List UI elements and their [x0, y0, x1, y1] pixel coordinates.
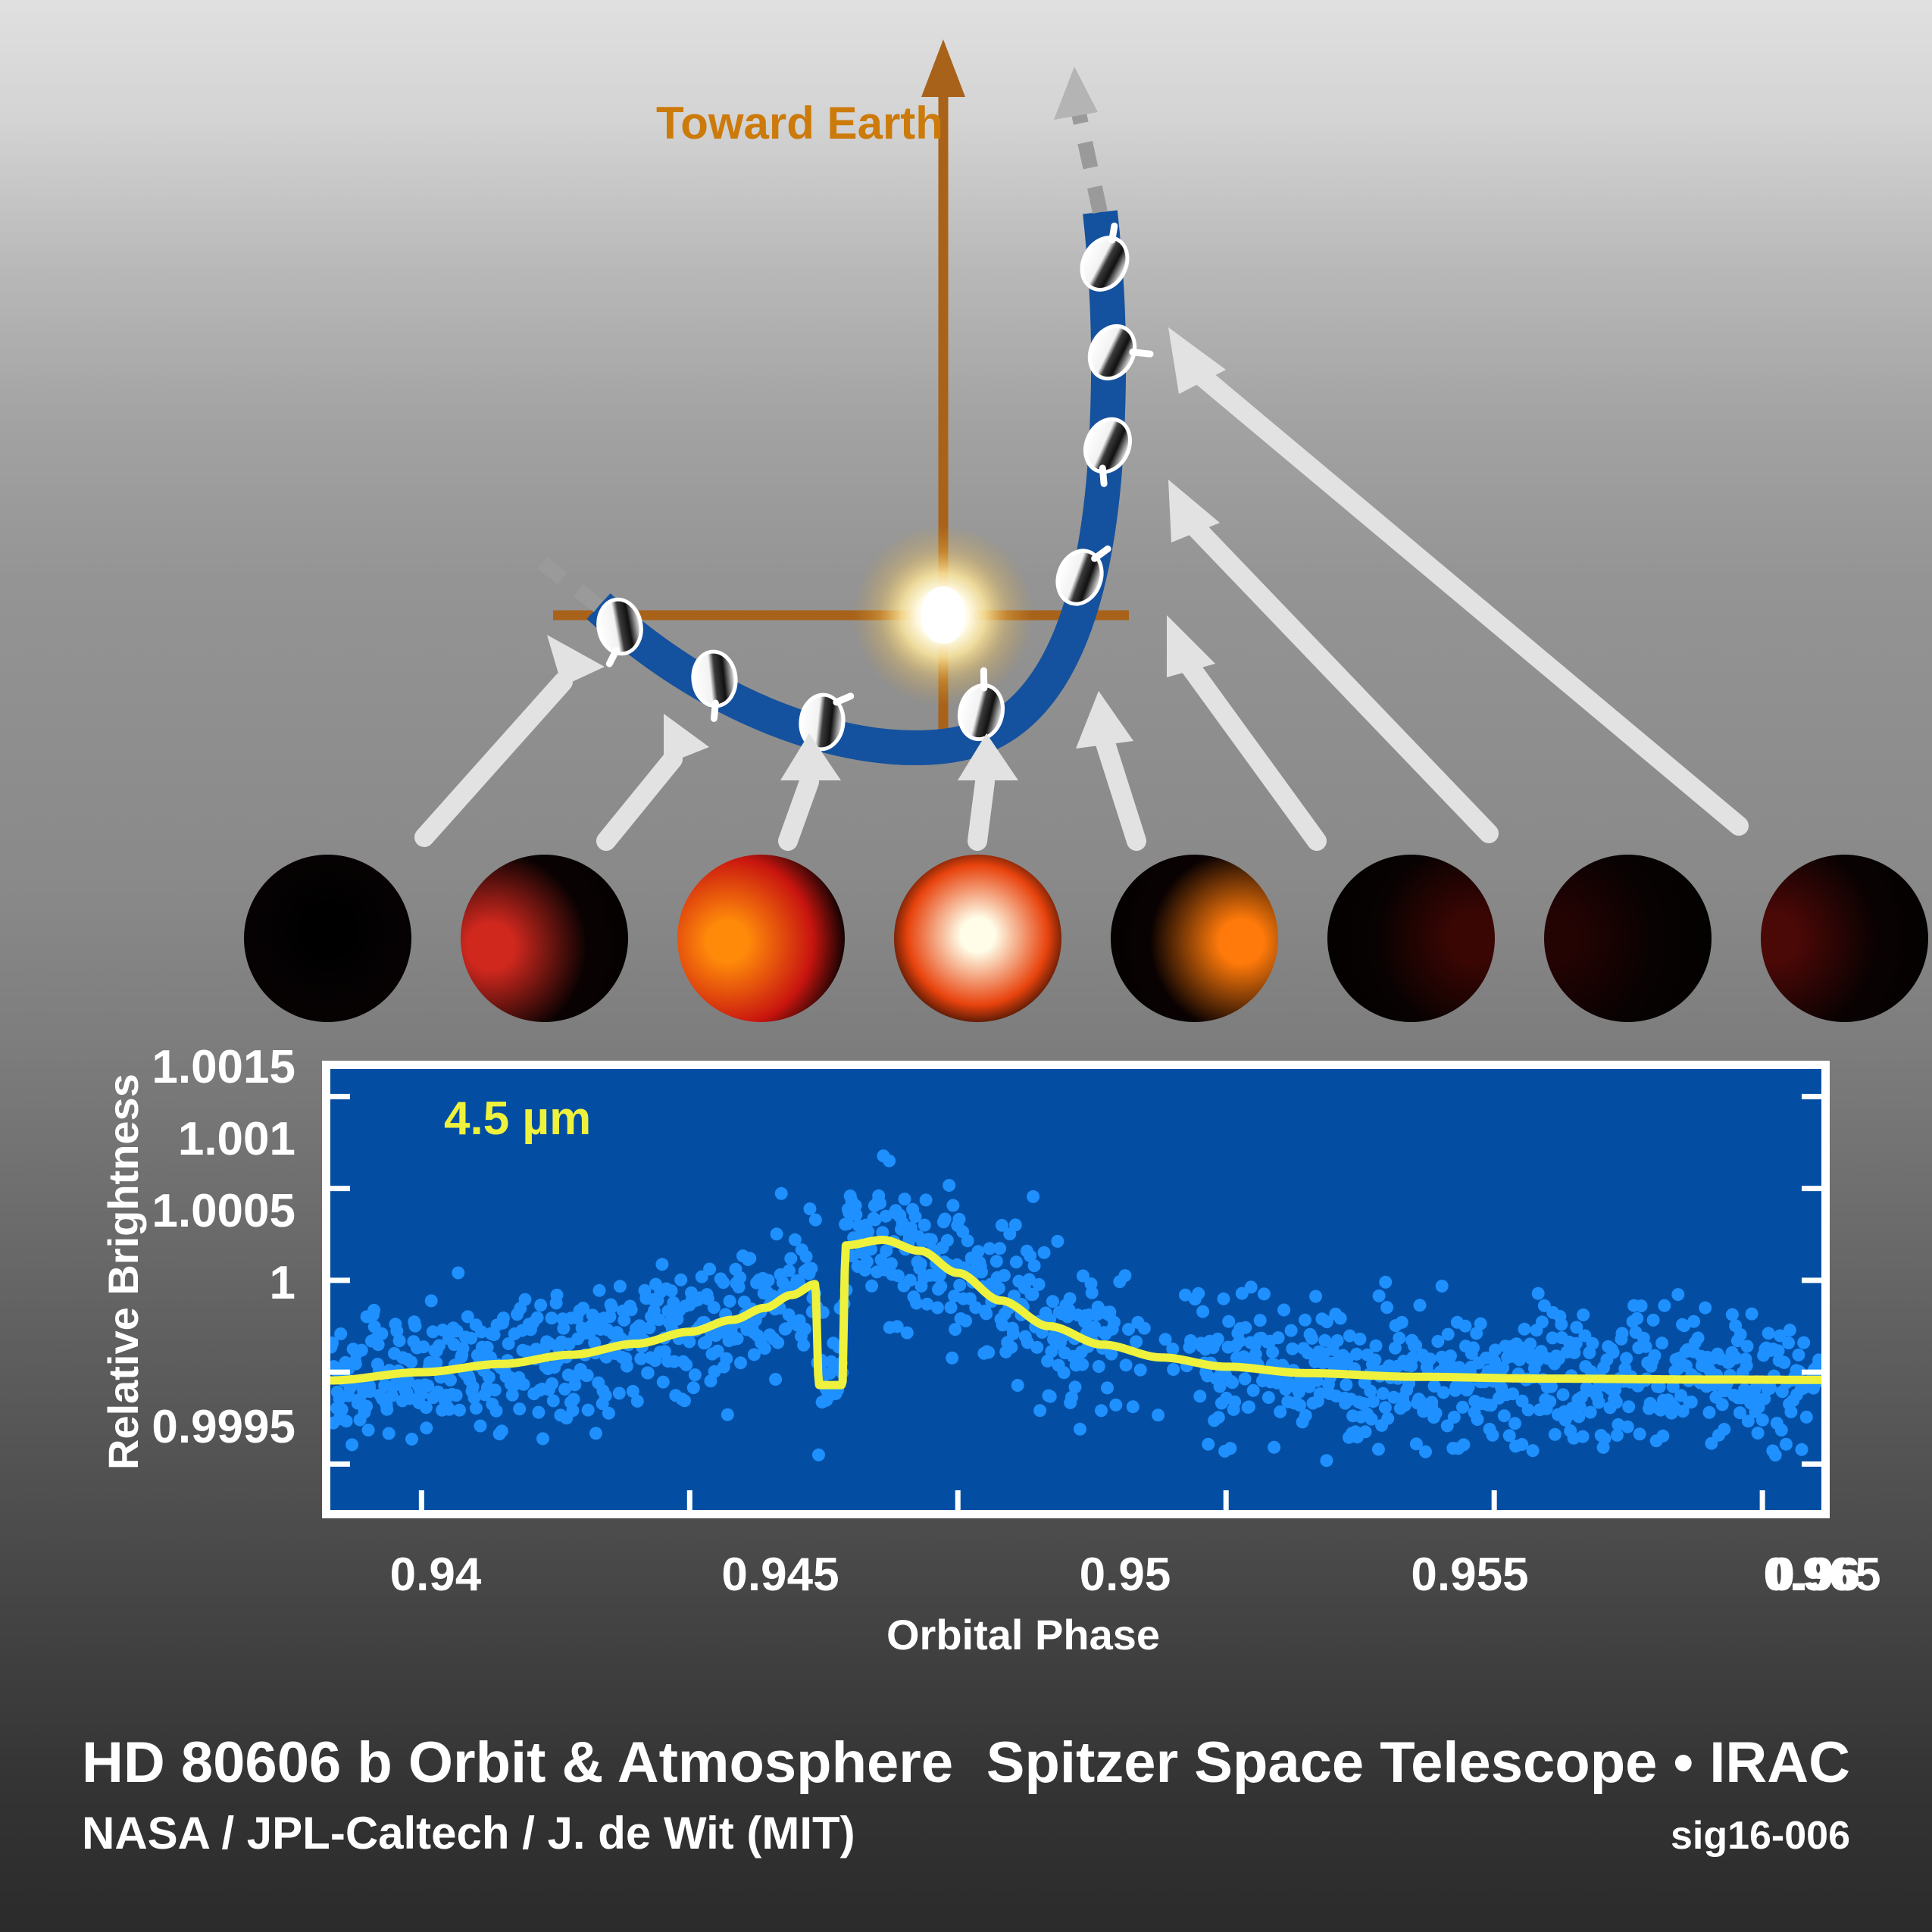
data-point	[883, 1155, 896, 1168]
data-point	[980, 1307, 993, 1320]
data-point	[1549, 1428, 1562, 1441]
data-point	[920, 1193, 933, 1206]
data-point	[1462, 1380, 1475, 1393]
orbit-direction-arrowhead	[1054, 67, 1098, 120]
data-point	[1635, 1299, 1648, 1312]
data-point	[1756, 1414, 1769, 1427]
data-point	[743, 1252, 756, 1265]
toward-earth-label: Toward Earth	[656, 97, 943, 149]
data-point	[1305, 1332, 1318, 1345]
data-point	[1353, 1333, 1366, 1346]
data-point	[593, 1284, 606, 1297]
data-point	[1033, 1404, 1046, 1417]
data-point	[1716, 1398, 1729, 1411]
planet-phase-row	[0, 855, 1932, 1029]
data-point	[1527, 1444, 1540, 1457]
footer: HD 80606 b Orbit & Atmosphere NASA / JPL…	[0, 1712, 1932, 1932]
data-point	[1577, 1430, 1590, 1443]
data-point	[1152, 1408, 1165, 1421]
data-point	[1030, 1341, 1043, 1354]
data-point	[678, 1394, 691, 1407]
data-point	[1442, 1328, 1455, 1341]
data-point	[1254, 1314, 1267, 1327]
data-point	[800, 1250, 813, 1263]
data-point	[687, 1381, 700, 1394]
data-point	[1130, 1335, 1143, 1348]
data-point	[1262, 1391, 1275, 1404]
data-point	[631, 1395, 644, 1408]
x-tick-label-0.965: 0.965	[1708, 1548, 1932, 1602]
data-point	[1228, 1396, 1241, 1408]
data-point	[959, 1315, 972, 1327]
data-point	[918, 1219, 931, 1232]
data-point	[489, 1383, 502, 1396]
data-point	[1655, 1336, 1668, 1349]
data-point	[721, 1408, 734, 1421]
data-point	[1196, 1305, 1209, 1318]
data-point	[771, 1336, 784, 1349]
data-point	[1027, 1190, 1039, 1203]
data-point	[1633, 1427, 1646, 1440]
data-point	[1380, 1301, 1393, 1314]
data-point	[1245, 1280, 1258, 1293]
data-point	[1007, 1327, 1020, 1340]
data-point	[1028, 1259, 1041, 1272]
data-point	[1247, 1384, 1260, 1397]
data-point	[452, 1267, 464, 1280]
data-point	[1218, 1293, 1230, 1305]
data-point	[1436, 1280, 1449, 1293]
data-point	[1471, 1413, 1484, 1426]
data-point	[1396, 1316, 1408, 1329]
data-point	[941, 1234, 954, 1247]
data-point	[733, 1271, 746, 1284]
data-point	[1536, 1315, 1549, 1328]
data-point	[1011, 1379, 1024, 1392]
data-point	[946, 1199, 959, 1212]
data-point	[1108, 1316, 1121, 1329]
data-point	[1167, 1363, 1180, 1376]
y-tick-label-1.0015: 1.0015	[45, 1040, 295, 1094]
data-point	[1076, 1358, 1089, 1371]
data-point	[1058, 1366, 1071, 1379]
data-point	[517, 1378, 530, 1391]
data-point	[1752, 1427, 1765, 1440]
data-point	[901, 1327, 914, 1340]
data-point	[665, 1284, 678, 1297]
x-tick-label-0.95: 0.95	[1011, 1548, 1239, 1602]
data-point	[945, 1301, 958, 1314]
data-point	[865, 1280, 878, 1293]
data-point	[717, 1276, 730, 1289]
data-point	[804, 1202, 817, 1215]
data-point	[497, 1311, 510, 1324]
data-point	[1138, 1322, 1151, 1335]
data-point	[775, 1187, 788, 1200]
phase-ball-1	[244, 855, 411, 1022]
data-point	[1593, 1396, 1605, 1409]
data-point	[1703, 1406, 1716, 1419]
data-point	[1424, 1352, 1436, 1365]
data-point	[1212, 1411, 1225, 1424]
data-point	[703, 1263, 716, 1276]
data-point	[1586, 1337, 1599, 1350]
data-point	[420, 1421, 433, 1434]
phase-ball-6	[1327, 855, 1495, 1022]
data-point	[474, 1420, 487, 1433]
data-point	[1192, 1287, 1205, 1300]
data-point	[1134, 1364, 1147, 1377]
data-point	[899, 1193, 911, 1205]
data-point	[934, 1280, 947, 1293]
data-point	[1532, 1287, 1545, 1300]
data-point	[1797, 1336, 1810, 1349]
y-tick-label-1.0005: 1.0005	[45, 1184, 295, 1238]
data-point	[380, 1403, 393, 1416]
data-point	[1784, 1405, 1797, 1418]
data-point	[457, 1342, 470, 1355]
data-point	[1359, 1425, 1372, 1438]
data-point	[613, 1386, 626, 1399]
data-point	[605, 1301, 618, 1314]
data-point	[1299, 1409, 1312, 1422]
data-point	[724, 1295, 736, 1308]
data-point	[1685, 1396, 1698, 1408]
data-point	[531, 1311, 544, 1324]
data-point	[1780, 1438, 1793, 1451]
data-point	[946, 1352, 958, 1365]
data-point	[367, 1304, 380, 1317]
data-point	[621, 1360, 633, 1373]
data-point	[874, 1197, 886, 1210]
data-point	[1649, 1349, 1662, 1362]
data-point	[1334, 1312, 1347, 1325]
data-point	[993, 1242, 1006, 1255]
data-point	[444, 1374, 457, 1386]
data-point	[1792, 1349, 1805, 1361]
data-point	[1577, 1308, 1590, 1321]
data-point	[453, 1404, 466, 1417]
data-point	[1093, 1360, 1105, 1373]
phase-ball-2	[461, 855, 628, 1022]
data-point	[771, 1227, 783, 1240]
data-point	[1607, 1346, 1620, 1359]
data-point	[939, 1213, 952, 1226]
data-point	[1610, 1396, 1623, 1408]
data-point	[1193, 1390, 1206, 1402]
data-point	[1498, 1409, 1511, 1422]
data-point	[1095, 1404, 1108, 1417]
orbit-path	[599, 212, 1108, 748]
data-point	[972, 1245, 985, 1258]
data-point	[1331, 1334, 1344, 1347]
data-point	[812, 1449, 825, 1462]
data-point	[1243, 1400, 1255, 1413]
data-point	[340, 1415, 353, 1427]
data-point	[1381, 1412, 1394, 1425]
data-point	[1286, 1343, 1299, 1355]
data-point	[1233, 1335, 1246, 1348]
data-point	[1166, 1343, 1179, 1355]
phase-ball-3	[677, 855, 845, 1022]
data-point	[375, 1327, 388, 1340]
data-point	[1734, 1328, 1747, 1341]
data-point	[1699, 1302, 1712, 1315]
data-point	[1046, 1295, 1059, 1308]
data-point	[1226, 1376, 1239, 1389]
data-point	[566, 1404, 579, 1417]
data-point	[784, 1252, 797, 1265]
data-point	[689, 1368, 702, 1381]
data-point	[1459, 1320, 1472, 1333]
data-point	[1467, 1341, 1480, 1354]
data-point	[1419, 1446, 1432, 1458]
data-point	[657, 1376, 670, 1389]
phase-ball-8	[1761, 855, 1928, 1022]
data-point	[849, 1208, 862, 1221]
data-point	[425, 1294, 438, 1307]
footer-credit: NASA / JPL-Caltech / J. de Wit (MIT)	[82, 1807, 855, 1859]
data-point	[1630, 1312, 1643, 1325]
footer-title: HD 80606 b Orbit & Atmosphere	[82, 1730, 953, 1796]
data-point	[1393, 1332, 1405, 1345]
data-point	[1777, 1356, 1790, 1369]
data-point	[1622, 1400, 1635, 1413]
x-tick-label-0.94: 0.94	[322, 1548, 549, 1602]
data-point	[1444, 1349, 1457, 1362]
data-point	[1598, 1432, 1611, 1445]
data-point	[982, 1346, 995, 1359]
data-point	[975, 1265, 988, 1278]
data-point	[1616, 1327, 1629, 1340]
data-point	[914, 1258, 927, 1271]
data-point	[1543, 1396, 1556, 1408]
footer-instrument: Spitzer Space Telescope • IRAC	[986, 1730, 1850, 1796]
data-point	[861, 1225, 874, 1238]
data-point	[998, 1269, 1011, 1282]
data-point	[1368, 1354, 1381, 1367]
data-point	[1555, 1318, 1568, 1331]
data-point	[1074, 1423, 1086, 1436]
data-point	[345, 1438, 358, 1451]
data-point	[360, 1400, 373, 1413]
data-point	[1741, 1340, 1754, 1352]
data-point	[1120, 1358, 1133, 1371]
data-point	[1239, 1373, 1252, 1386]
orbit-dashed-lower-left	[539, 561, 599, 606]
data-point	[1740, 1359, 1753, 1372]
data-point	[931, 1302, 944, 1315]
data-point	[1800, 1411, 1813, 1424]
infographic-root: Toward Earth 4.5 µm 1.0015 1.001 1.0005 …	[0, 0, 1932, 1932]
data-point	[1086, 1286, 1099, 1299]
data-point	[1782, 1336, 1795, 1349]
data-point	[1430, 1407, 1443, 1420]
data-point	[1522, 1403, 1535, 1416]
x-tick-label-0.955: 0.955	[1356, 1548, 1583, 1602]
data-point	[1069, 1380, 1082, 1393]
data-point	[953, 1279, 966, 1292]
data-point	[546, 1311, 558, 1324]
data-point	[519, 1293, 532, 1306]
data-point	[1370, 1340, 1383, 1352]
data-point	[1064, 1293, 1077, 1305]
data-point	[708, 1301, 721, 1314]
data-point	[483, 1371, 496, 1383]
data-point	[1508, 1417, 1521, 1430]
data-point	[1518, 1323, 1531, 1336]
data-point	[1038, 1246, 1051, 1259]
data-point	[680, 1358, 692, 1371]
data-point	[1687, 1315, 1700, 1328]
x-axis-title: Orbital Phase	[886, 1610, 1160, 1659]
data-point	[1671, 1288, 1684, 1301]
data-point	[405, 1433, 418, 1446]
data-point	[1621, 1421, 1634, 1433]
data-point	[536, 1432, 549, 1445]
data-point	[1272, 1331, 1285, 1344]
data-point	[674, 1274, 687, 1286]
data-point	[655, 1258, 668, 1271]
data-point	[1258, 1287, 1271, 1300]
data-point	[1372, 1443, 1385, 1455]
data-point	[993, 1282, 1005, 1295]
data-point	[546, 1377, 558, 1390]
data-point	[1033, 1278, 1046, 1291]
data-point	[1515, 1438, 1528, 1451]
data-point	[683, 1335, 696, 1348]
data-point	[1051, 1235, 1064, 1248]
data-point	[1487, 1429, 1499, 1442]
data-point	[1769, 1449, 1782, 1462]
data-point	[1379, 1401, 1392, 1414]
wavelength-band-label: 4.5 µm	[444, 1092, 591, 1146]
data-point	[809, 1214, 822, 1227]
data-point	[904, 1274, 917, 1286]
data-point	[1005, 1341, 1018, 1354]
data-point	[470, 1402, 483, 1415]
data-point	[1746, 1308, 1758, 1321]
data-point	[1784, 1324, 1796, 1336]
y-tick-label-0.9995: 0.9995	[45, 1400, 295, 1454]
data-point	[1796, 1443, 1809, 1456]
data-point	[490, 1405, 503, 1418]
data-point	[589, 1427, 602, 1440]
data-point	[1658, 1299, 1671, 1312]
data-point	[602, 1407, 615, 1420]
data-point	[758, 1342, 771, 1355]
data-point	[1524, 1337, 1537, 1350]
data-point	[405, 1355, 417, 1368]
data-point	[1109, 1399, 1122, 1411]
data-point	[362, 1424, 375, 1436]
data-point	[625, 1303, 638, 1316]
data-point	[1044, 1390, 1057, 1403]
data-point	[1268, 1441, 1280, 1454]
data-point	[383, 1427, 395, 1440]
data-point	[1414, 1299, 1427, 1311]
data-point	[450, 1389, 463, 1402]
data-point	[547, 1394, 560, 1407]
host-star	[852, 524, 1034, 706]
data-point	[1620, 1352, 1633, 1365]
data-point	[614, 1280, 627, 1293]
data-point	[409, 1320, 422, 1333]
data-point	[1692, 1332, 1705, 1345]
data-point	[1503, 1429, 1516, 1442]
data-point	[1009, 1218, 1022, 1231]
data-point	[1010, 1255, 1023, 1268]
data-point	[1239, 1321, 1252, 1334]
data-point	[769, 1373, 782, 1386]
data-point	[581, 1369, 594, 1382]
data-point	[599, 1390, 612, 1402]
data-point	[1448, 1411, 1461, 1424]
data-point	[355, 1344, 368, 1357]
data-point	[1726, 1308, 1739, 1321]
phase-ball-5	[1111, 855, 1278, 1022]
data-point	[953, 1213, 966, 1226]
data-point	[797, 1339, 810, 1352]
data-point	[1309, 1290, 1322, 1303]
data-point	[582, 1404, 595, 1417]
data-point	[1656, 1430, 1669, 1443]
phase-ball-7	[1544, 855, 1712, 1022]
data-point	[805, 1262, 818, 1275]
data-point	[642, 1367, 655, 1380]
data-point	[961, 1234, 974, 1247]
data-point	[734, 1356, 747, 1369]
data-point	[1373, 1290, 1386, 1302]
data-point	[1557, 1388, 1570, 1401]
x-tick-label-0.945: 0.945	[667, 1548, 894, 1602]
data-point	[1775, 1424, 1788, 1436]
data-point	[496, 1424, 508, 1437]
data-point	[532, 1406, 545, 1419]
data-point	[393, 1334, 406, 1347]
data-point	[1277, 1304, 1290, 1317]
data-point	[1285, 1324, 1298, 1337]
phase-ball-4	[894, 855, 1061, 1022]
y-tick-label-1.001: 1.001	[45, 1112, 295, 1166]
data-point	[336, 1403, 349, 1416]
data-point	[417, 1340, 430, 1353]
data-point	[1437, 1386, 1450, 1399]
data-point	[1718, 1423, 1730, 1436]
data-point	[1457, 1438, 1470, 1451]
data-point	[1118, 1269, 1131, 1282]
y-axis-title: Relative Brightness	[98, 1074, 148, 1470]
data-point	[861, 1255, 874, 1268]
data-point	[731, 1332, 744, 1345]
data-point	[334, 1327, 347, 1340]
data-point	[1127, 1400, 1140, 1413]
light-curve-chart: 4.5 µm	[322, 1061, 1830, 1518]
data-point	[1474, 1318, 1487, 1330]
data-point	[1320, 1454, 1333, 1467]
data-point	[1101, 1381, 1114, 1394]
y-tick-label-1: 1	[45, 1256, 295, 1310]
data-point	[534, 1299, 547, 1311]
data-point	[1456, 1401, 1469, 1414]
data-point	[1647, 1314, 1660, 1327]
data-point	[1266, 1346, 1279, 1358]
data-point	[925, 1233, 938, 1246]
data-point	[1202, 1438, 1215, 1451]
data-point	[720, 1352, 733, 1365]
data-point	[513, 1402, 526, 1415]
data-point	[990, 1255, 1003, 1268]
